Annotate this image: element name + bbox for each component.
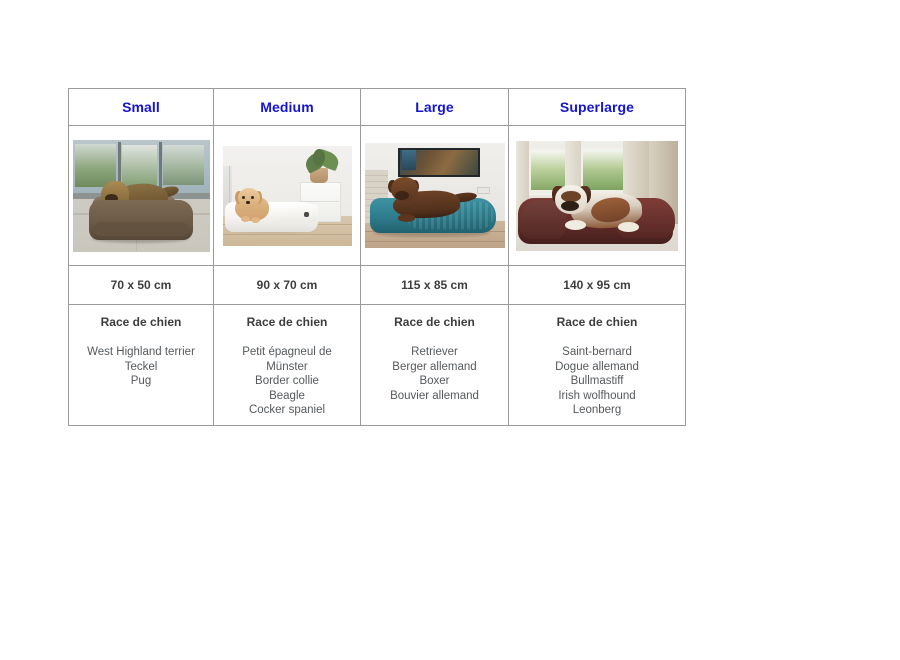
size-name-superlarge: Superlarge [509,100,685,114]
breed-item: West Highland terrier [69,345,213,360]
breed-item: Beagle [214,389,360,404]
header-cell-medium: Medium [214,89,361,126]
breed-title-small: Race de chien [69,316,213,328]
product-photo-medium [223,146,352,246]
size-name-large: Large [361,100,508,114]
breed-item: Pug [69,374,213,389]
dimensions-medium: 90 x 70 cm [214,279,360,291]
dimensions-small: 70 x 50 cm [69,279,213,291]
breed-item: Retriever [361,345,508,360]
breed-item: Bullmastiff [509,374,685,389]
header-cell-small: Small [69,89,214,126]
header-cell-large: Large [361,89,509,126]
breed-item: Cocker spaniel [214,403,360,418]
breed-item: Bouvier allemand [361,389,508,404]
breeds-cell-medium: Race de chien Petit épagneul deMünsterBo… [214,305,361,426]
photo-cell-large [361,126,509,266]
product-photo-small [73,140,210,252]
breed-item: Leonberg [509,403,685,418]
dog-bed-size-table: Small Medium Large Superlarge [68,88,686,426]
dimensions-cell-medium: 90 x 70 cm [214,266,361,305]
size-name-small: Small [69,100,213,114]
dimensions-cell-small: 70 x 50 cm [69,266,214,305]
photo-cell-superlarge [509,126,686,266]
breed-item: Berger allemand [361,360,508,375]
breed-item: Irish wolfhound [509,389,685,404]
breed-item: Münster [214,360,360,375]
table-photo-row [69,126,686,266]
breed-item: Petit épagneul de [214,345,360,360]
breed-item: Saint-bernard [509,345,685,360]
breed-title-medium: Race de chien [214,316,360,328]
header-cell-superlarge: Superlarge [509,89,686,126]
breed-item: Teckel [69,360,213,375]
product-photo-superlarge [516,141,678,251]
product-photo-large [365,143,505,248]
breed-item: Border collie [214,374,360,389]
breed-title-superlarge: Race de chien [509,316,685,328]
photo-cell-small [69,126,214,266]
photo-cell-medium [214,126,361,266]
breed-list-small: West Highland terrierTeckelPug [69,345,213,389]
breeds-cell-superlarge: Race de chien Saint-bernardDogue alleman… [509,305,686,426]
size-name-medium: Medium [214,100,360,114]
table-header-row: Small Medium Large Superlarge [69,89,686,126]
breeds-cell-large: Race de chien RetrieverBerger allemandBo… [361,305,509,426]
breed-list-medium: Petit épagneul deMünsterBorder collieBea… [214,345,360,418]
table-breeds-row: Race de chien West Highland terrierTecke… [69,305,686,426]
dimensions-cell-large: 115 x 85 cm [361,266,509,305]
breed-title-large: Race de chien [361,316,508,328]
document-page: Small Medium Large Superlarge [0,0,900,660]
dimensions-superlarge: 140 x 95 cm [509,279,685,291]
dimensions-large: 115 x 85 cm [361,279,508,291]
breed-list-superlarge: Saint-bernardDogue allemandBullmastiffIr… [509,345,685,418]
breed-item: Dogue allemand [509,360,685,375]
breed-item: Boxer [361,374,508,389]
dimensions-cell-superlarge: 140 x 95 cm [509,266,686,305]
breeds-cell-small: Race de chien West Highland terrierTecke… [69,305,214,426]
table-dimensions-row: 70 x 50 cm 90 x 70 cm 115 x 85 cm 140 x … [69,266,686,305]
breed-list-large: RetrieverBerger allemandBoxerBouvier all… [361,345,508,403]
